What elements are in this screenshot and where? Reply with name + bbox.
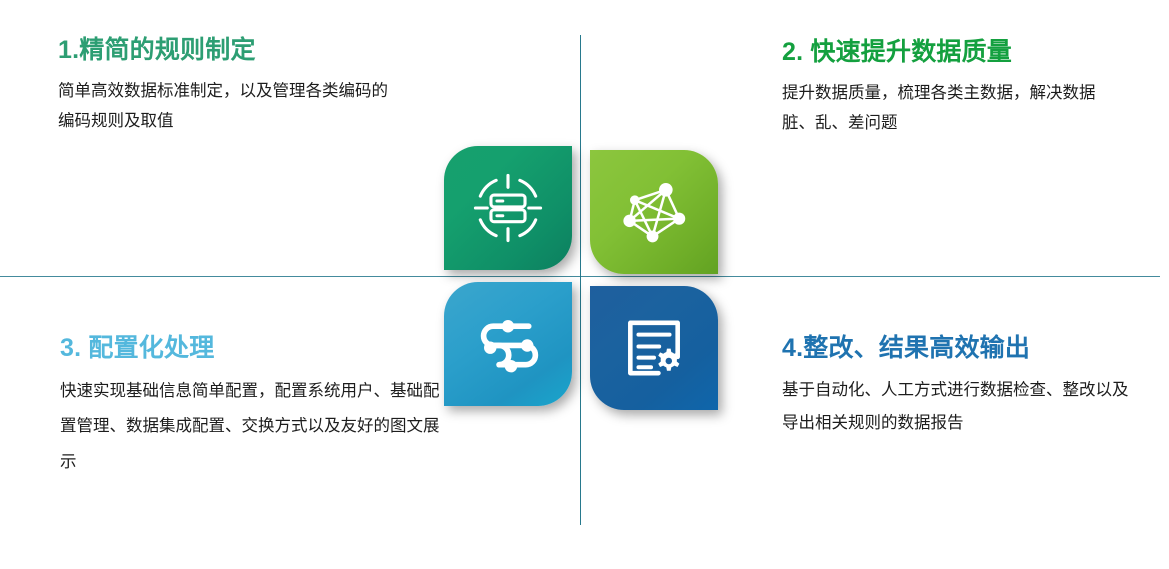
quadrant-rule-definition: 1.精简的规则制定 简单高效数据标准制定，以及管理各类编码的编码规则及取值 (58, 36, 388, 136)
target-database-icon (471, 171, 545, 245)
tile-data-quality[interactable] (590, 150, 718, 274)
quadrant-data-quality: 2. 快速提升数据质量 提升数据质量，梳理各类主数据，解决数据脏、乱、差问题 (782, 38, 1122, 138)
quadrant-title-data-quality: 2. 快速提升数据质量 (782, 38, 1122, 67)
quadrant-title-configuration: 3. 配置化处理 (60, 334, 440, 363)
tile-configuration[interactable] (444, 282, 572, 406)
quadrant-configuration: 3. 配置化处理 快速实现基础信息简单配置，配置系统用户、基础配置管理、数据集成… (60, 334, 440, 480)
quadrant-body-data-quality: 提升数据质量，梳理各类主数据，解决数据脏、乱、差问题 (782, 78, 1122, 138)
document-gear-icon (617, 311, 691, 385)
quadrant-body-output-report: 基于自动化、人工方式进行数据检查、整改以及导出相关规则的数据报告 (782, 374, 1132, 440)
workflow-route-icon (471, 307, 545, 381)
tile-output-report[interactable] (590, 286, 718, 410)
network-graph-icon (617, 175, 691, 249)
quadrant-body-configuration: 快速实现基础信息简单配置，配置系统用户、基础配置管理、数据集成配置、交换方式以及… (60, 374, 440, 480)
quadrant-title-rule-definition: 1.精简的规则制定 (58, 36, 388, 65)
tile-rule-definition[interactable] (444, 146, 572, 270)
center-icon-cluster (444, 146, 718, 408)
quadrant-body-rule-definition: 简单高效数据标准制定，以及管理各类编码的编码规则及取值 (58, 76, 388, 136)
quadrant-output-report: 4.整改、结果高效输出 基于自动化、人工方式进行数据检查、整改以及导出相关规则的… (782, 334, 1132, 440)
quadrant-title-output-report: 4.整改、结果高效输出 (782, 334, 1132, 363)
